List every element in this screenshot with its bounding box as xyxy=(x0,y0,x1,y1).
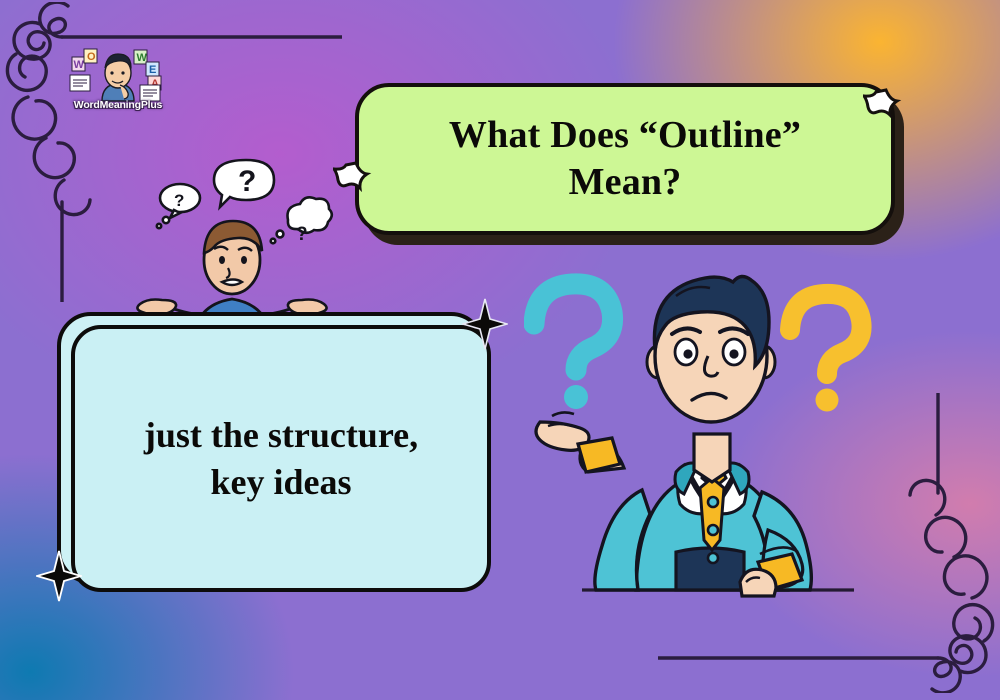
callout-line-1: just the structure, xyxy=(144,415,418,455)
site-logo[interactable]: W O W E A xyxy=(62,41,174,111)
callout-box-inner-frame: just the structure, key ideas xyxy=(71,325,491,592)
sparkle-bottom-left-icon xyxy=(36,550,82,607)
question-mark-left-icon xyxy=(534,284,613,409)
title-banner: What Does “Outline” Mean? xyxy=(355,83,895,235)
svg-text:E: E xyxy=(149,64,156,76)
title-text: What Does “Outline” Mean? xyxy=(415,112,835,207)
callout-text: just the structure, key ideas xyxy=(118,412,444,506)
sparkle-top-right-icon xyxy=(462,298,508,355)
graphic-canvas: W O W E A xyxy=(0,0,1000,700)
callout-line-2: key ideas xyxy=(210,462,351,502)
title-line-1: What Does “Outline” xyxy=(449,114,801,156)
question-mark-right-icon xyxy=(790,294,862,412)
star-bottom-left-icon xyxy=(333,160,379,211)
logo-wordmark: WordMeaningPlus xyxy=(62,99,174,111)
callout-box: just the structure, key ideas xyxy=(57,312,485,584)
svg-text:?: ? xyxy=(296,224,308,245)
svg-text:?: ? xyxy=(238,165,256,198)
title-banner-box: What Does “Outline” Mean? xyxy=(355,83,895,235)
star-top-right-icon xyxy=(863,87,909,138)
title-line-2: Mean? xyxy=(569,161,682,203)
svg-text:W: W xyxy=(74,59,85,71)
svg-text:O: O xyxy=(87,51,96,63)
thinking-man-illustration xyxy=(524,252,896,605)
svg-text:?: ? xyxy=(174,191,184,210)
